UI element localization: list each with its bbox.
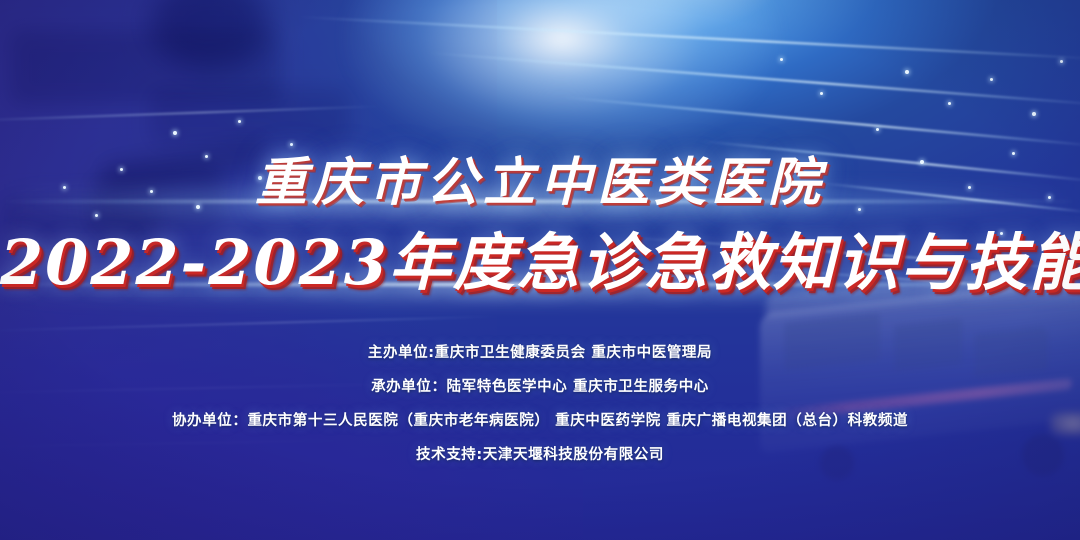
credit-line-organizer: 主办单位:重庆市卫生健康委员会 重庆市中医管理局 (0, 336, 1080, 370)
sparkle-particle (905, 70, 909, 74)
poster-title-line-1: 重庆市公立中医类医院 (0, 140, 1080, 215)
sparkle-particle (173, 131, 177, 135)
sparkle-particle (990, 78, 993, 81)
poster-canvas: 重庆市公立中医类医院 2022-2023年度急诊急救知识与技能竞赛 主办单位:重… (0, 0, 1080, 540)
credits-block: 主办单位:重庆市卫生健康委员会 重庆市中医管理局 承办单位：陆军特色医学中心 重… (0, 336, 1080, 472)
sparkle-particle (948, 102, 951, 105)
poster-title-line-2: 2022-2023年度急诊急救知识与技能竞赛 (0, 212, 1080, 302)
left-panel-ghost-shape (150, 88, 350, 146)
sparkle-particle (780, 58, 783, 61)
credit-line-co-organizer: 协办单位：重庆市第十三人民医院（重庆市老年病医院） 重庆中医药学院 重庆广播电视… (0, 404, 1080, 438)
sparkle-particle (876, 128, 879, 131)
sparkle-particle (1060, 60, 1063, 63)
sparkle-particle (820, 92, 823, 95)
sparkle-particle (238, 120, 241, 123)
credit-line-host: 承办单位：陆军特色医学中心 重庆市卫生服务中心 (0, 370, 1080, 404)
credit-line-tech-support: 技术支持:天津天堰科技股份有限公司 (0, 438, 1080, 472)
sparkle-particle (1032, 112, 1036, 116)
